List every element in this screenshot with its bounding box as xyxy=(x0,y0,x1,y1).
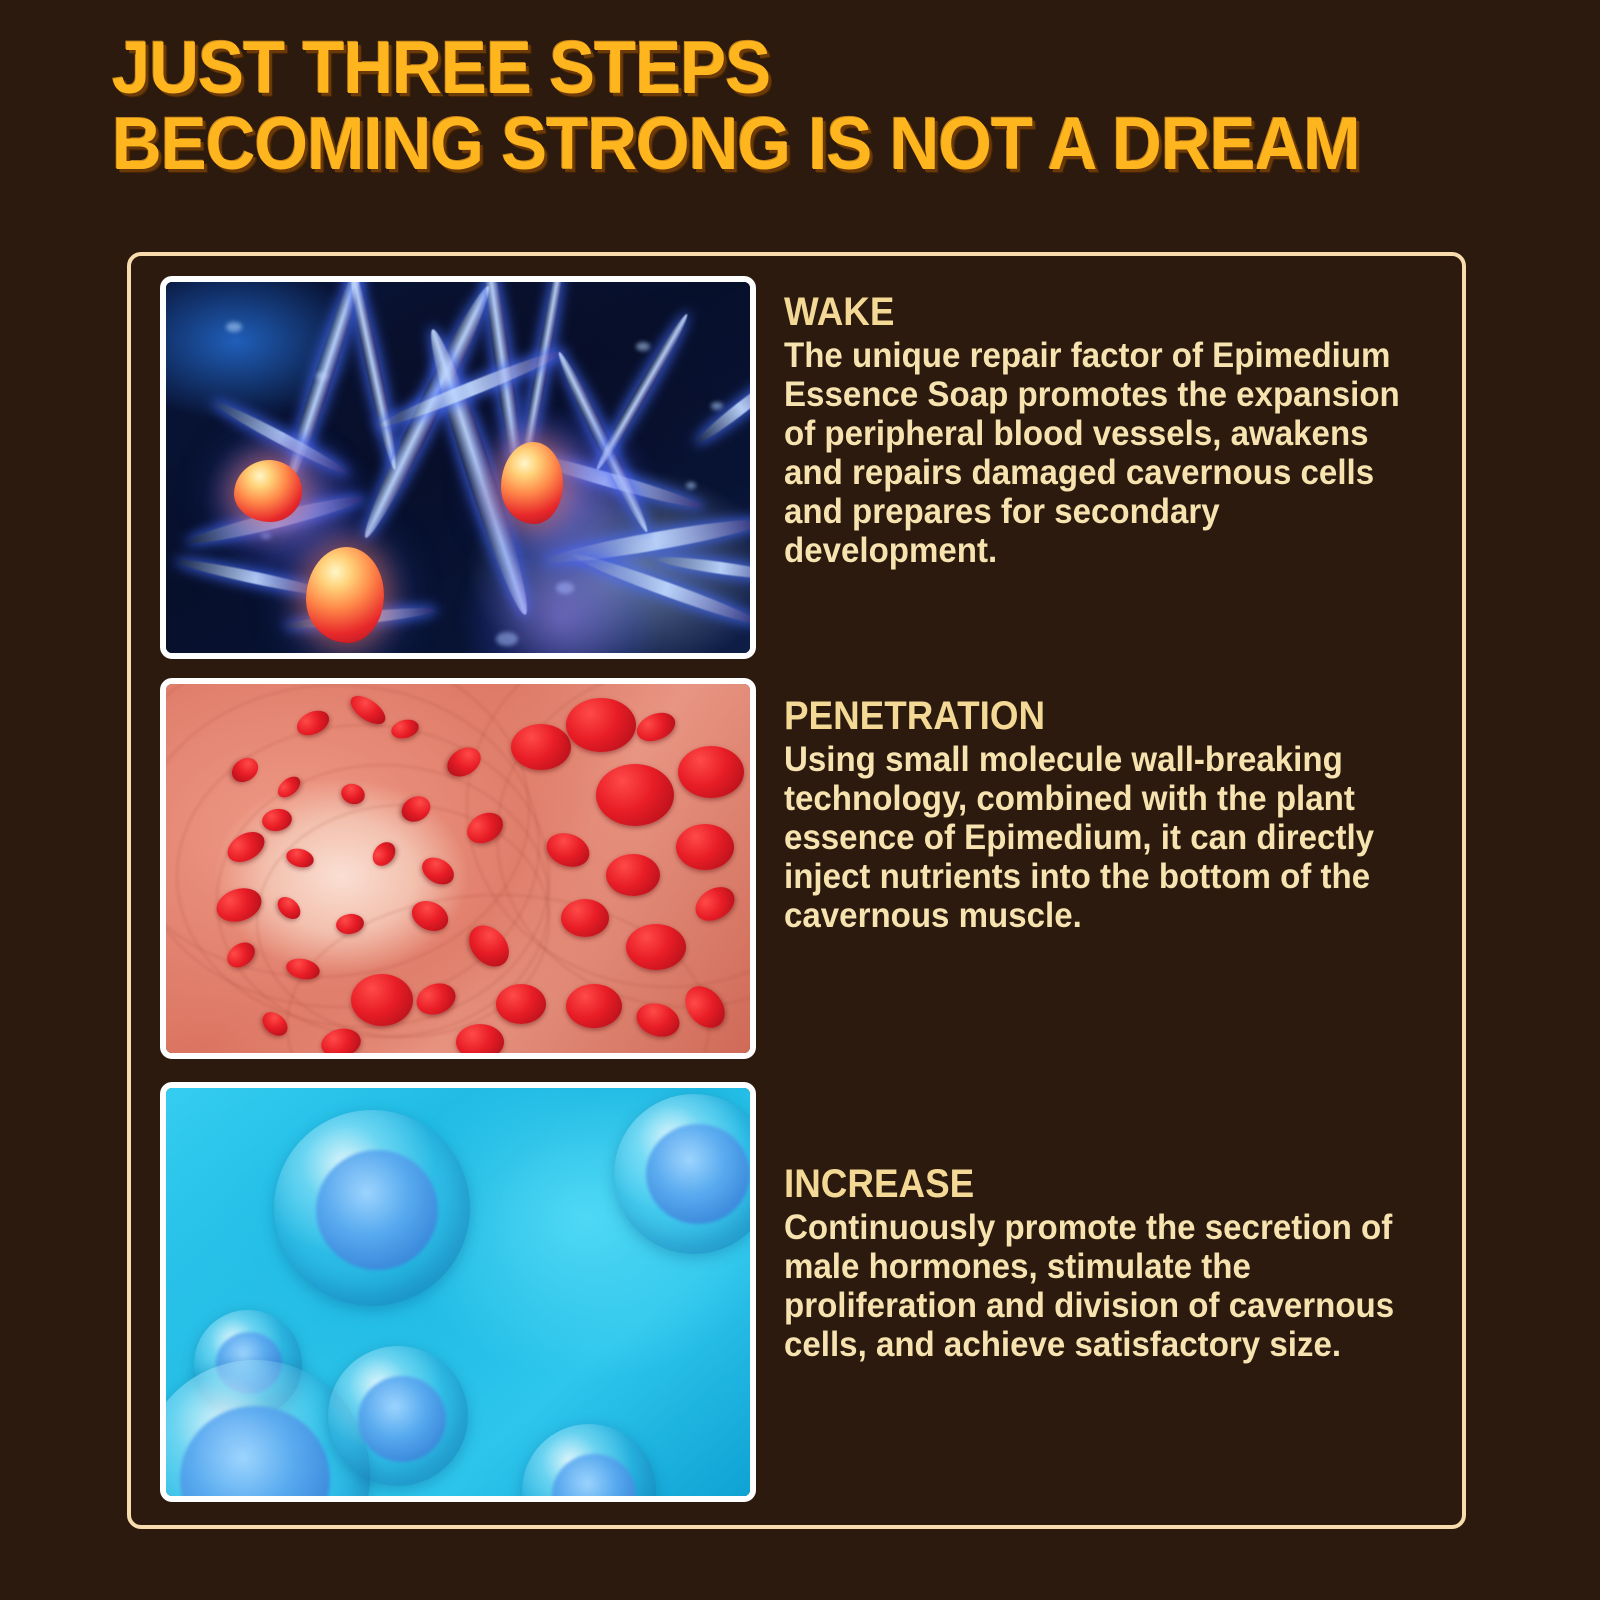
step-heading-penetration: PENETRATION xyxy=(784,694,1419,738)
step-body-penetration: Using small molecule wall-breaking techn… xyxy=(784,740,1436,935)
step-body-increase: Continuously promote the secretion of ma… xyxy=(784,1208,1436,1364)
step-text-increase: INCREASE Continuously promote the secret… xyxy=(756,1082,1474,1364)
step-heading-wake: WAKE xyxy=(784,290,1419,334)
title-line-1: JUST THREE STEPS xyxy=(112,30,1433,106)
step-body-wake: The unique repair factor of Epimedium Es… xyxy=(784,336,1436,570)
step-text-penetration: PENETRATION Using small molecule wall-br… xyxy=(756,678,1474,935)
step-text-wake: WAKE The unique repair factor of Epimedi… xyxy=(756,276,1474,570)
step-row-increase: INCREASE Continuously promote the secret… xyxy=(160,1082,1440,1508)
title-line-2: BECOMING STRONG IS NOT A DREAM xyxy=(112,106,1433,182)
red-blood-cells-image xyxy=(160,678,756,1059)
step-row-penetration: PENETRATION Using small molecule wall-br… xyxy=(160,678,1440,1064)
blue-cells-image xyxy=(160,1082,756,1502)
steps-container: WAKE The unique repair factor of Epimedi… xyxy=(160,276,1440,1508)
step-heading-increase: INCREASE xyxy=(784,1162,1419,1206)
step-row-wake: WAKE The unique repair factor of Epimedi… xyxy=(160,276,1440,662)
neuron-network-image xyxy=(160,276,756,659)
page-title: JUST THREE STEPS BECOMING STRONG IS NOT … xyxy=(112,30,1532,182)
